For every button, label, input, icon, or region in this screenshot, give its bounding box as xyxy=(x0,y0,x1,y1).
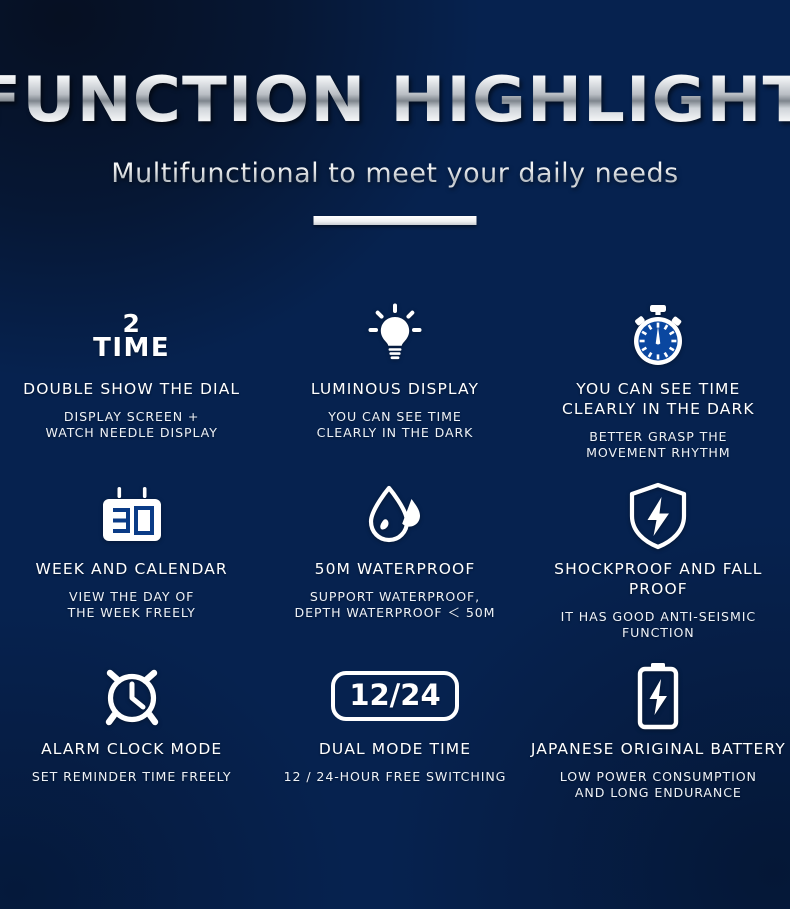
water-drop-icon xyxy=(361,480,429,552)
feature-title: DOUBLE SHOW THE DIAL xyxy=(23,380,240,400)
feature-title: DUAL MODE TIME xyxy=(319,740,471,760)
feature-subtitle: YOU CAN SEE TIME CLEARLY IN THE DARK xyxy=(317,409,474,442)
feature-title: WEEK AND CALENDAR xyxy=(36,560,228,580)
title-divider xyxy=(314,216,477,225)
twelve-twentyfour-badge-text: 12/24 xyxy=(331,671,458,721)
feature-card-dual-mode-time: 12/24 DUAL MODE TIME 12 / 24-HOUR FREE S… xyxy=(263,660,526,840)
two-time-text-icon: 2 TIME xyxy=(93,300,170,372)
feature-card-week-calendar: WEEK AND CALENDAR VIEW THE DAY OF THE WE… xyxy=(0,480,263,660)
page-title: FUNCTION HIGHLIGHTS xyxy=(0,63,790,136)
twelve-twentyfour-badge-icon: 12/24 xyxy=(331,660,458,732)
stopwatch-icon xyxy=(625,300,691,372)
feature-title: LUMINOUS DISPLAY xyxy=(311,380,479,400)
feature-subtitle: DISPLAY SCREEN + WATCH NEEDLE DISPLAY xyxy=(46,409,218,442)
feature-title: 50M WATERPROOF xyxy=(315,560,476,580)
feature-subtitle: 12 / 24-HOUR FREE SWITCHING xyxy=(284,769,507,785)
feature-subtitle: SET REMINDER TIME FREELY xyxy=(32,769,232,785)
lightbulb-icon xyxy=(362,300,428,372)
feature-subtitle: BETTER GRASP THE MOVEMENT RHYTHM xyxy=(586,429,731,462)
feature-grid: 2 TIME DOUBLE SHOW THE DIAL DISPLAY SCRE… xyxy=(0,300,790,840)
two-time-icon-top-text: 2 xyxy=(93,312,170,336)
shield-bolt-icon xyxy=(627,480,689,552)
feature-subtitle: VIEW THE DAY OF THE WEEK FREELY xyxy=(68,589,196,622)
calendar-icon xyxy=(100,480,164,552)
feature-card-alarm-clock: ALARM CLOCK MODE SET REMINDER TIME FREEL… xyxy=(0,660,263,840)
feature-title: YOU CAN SEE TIME CLEARLY IN THE DARK xyxy=(562,380,755,420)
feature-card-double-show-dial: 2 TIME DOUBLE SHOW THE DIAL DISPLAY SCRE… xyxy=(0,300,263,480)
alarm-clock-icon xyxy=(98,660,166,732)
feature-title: JAPANESE ORIGINAL BATTERY xyxy=(531,740,786,760)
feature-card-battery: JAPANESE ORIGINAL BATTERY LOW POWER CONS… xyxy=(527,660,790,840)
page-subtitle: Multifunctional to meet your daily needs xyxy=(0,158,790,189)
feature-title: SHOCKPROOF AND FALL PROOF xyxy=(531,560,786,600)
feature-subtitle: LOW POWER CONSUMPTION AND LONG ENDURANCE xyxy=(560,769,757,802)
feature-subtitle: IT HAS GOOD ANTI-SEISMIC FUNCTION xyxy=(561,609,756,642)
infographic-page: FUNCTION HIGHLIGHTS Multifunctional to m… xyxy=(0,0,790,909)
feature-card-stopwatch: YOU CAN SEE TIME CLEARLY IN THE DARK BET… xyxy=(527,300,790,480)
two-time-icon-bottom-text: TIME xyxy=(93,336,170,361)
feature-subtitle: SUPPORT WATERPROOF, DEPTH WATERPROOF ＜ 5… xyxy=(295,589,496,622)
feature-title: ALARM CLOCK MODE xyxy=(41,740,222,760)
battery-bolt-icon xyxy=(632,660,684,732)
feature-card-waterproof: 50M WATERPROOF SUPPORT WATERPROOF, DEPTH… xyxy=(263,480,526,660)
feature-card-shockproof: SHOCKPROOF AND FALL PROOF IT HAS GOOD AN… xyxy=(527,480,790,660)
feature-card-luminous-display: LUMINOUS DISPLAY YOU CAN SEE TIME CLEARL… xyxy=(263,300,526,480)
